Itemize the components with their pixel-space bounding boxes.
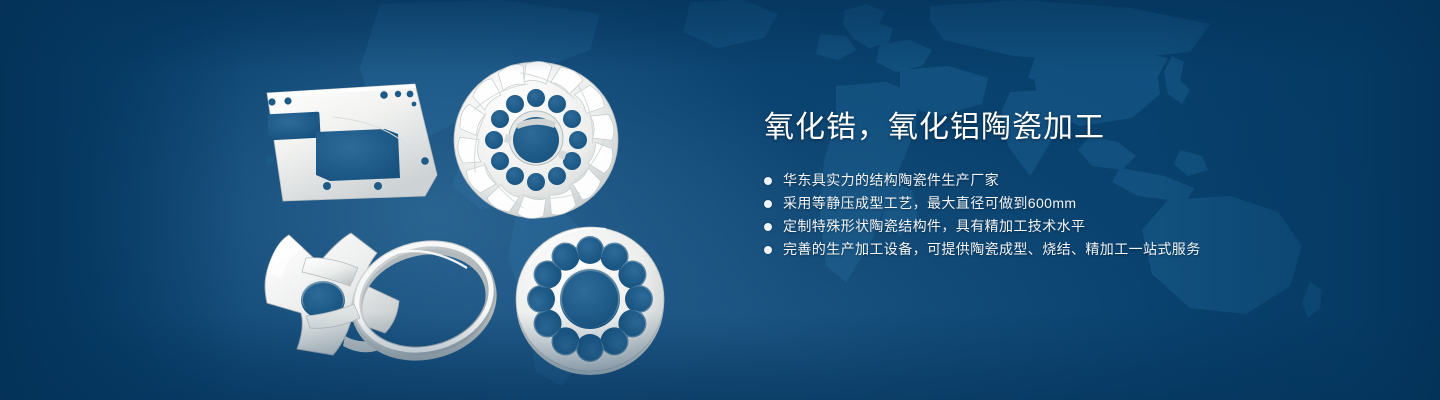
hero-banner: 氧化锆，氧化铝陶瓷加工 华东具实力的结构陶瓷件生产厂家 采用等静压成型工艺，最大… — [0, 0, 1440, 400]
list-item: 采用等静压成型工艺，最大直径可做到600mm — [764, 192, 1364, 215]
bullet-dot-icon — [764, 246, 772, 254]
feature-text: 完善的生产加工设备，可提供陶瓷成型、烧结、精加工一站式服务 — [783, 238, 1201, 261]
feature-list: 华东具实力的结构陶瓷件生产厂家 采用等静压成型工艺，最大直径可做到600mm 定… — [764, 169, 1364, 261]
bullet-dot-icon — [764, 177, 772, 185]
banner-content: 氧化锆，氧化铝陶瓷加工 华东具实力的结构陶瓷件生产厂家 采用等静压成型工艺，最大… — [764, 108, 1364, 277]
banner-title: 氧化锆，氧化铝陶瓷加工 — [764, 108, 1364, 148]
list-item: 华东具实力的结构陶瓷件生产厂家 — [764, 169, 1364, 192]
feature-text: 定制特殊形状陶瓷结构件，具有精加工技术水平 — [783, 215, 1085, 238]
list-item: 完善的生产加工设备，可提供陶瓷成型、烧结、精加工一站式服务 — [764, 238, 1364, 261]
bullet-dot-icon — [764, 223, 772, 231]
feature-text: 采用等静压成型工艺，最大直径可做到600mm — [783, 192, 1076, 215]
feature-text: 华东具实力的结构陶瓷件生产厂家 — [783, 169, 999, 192]
list-item: 定制特殊形状陶瓷结构件，具有精加工技术水平 — [764, 215, 1364, 238]
bullet-dot-icon — [764, 200, 772, 208]
